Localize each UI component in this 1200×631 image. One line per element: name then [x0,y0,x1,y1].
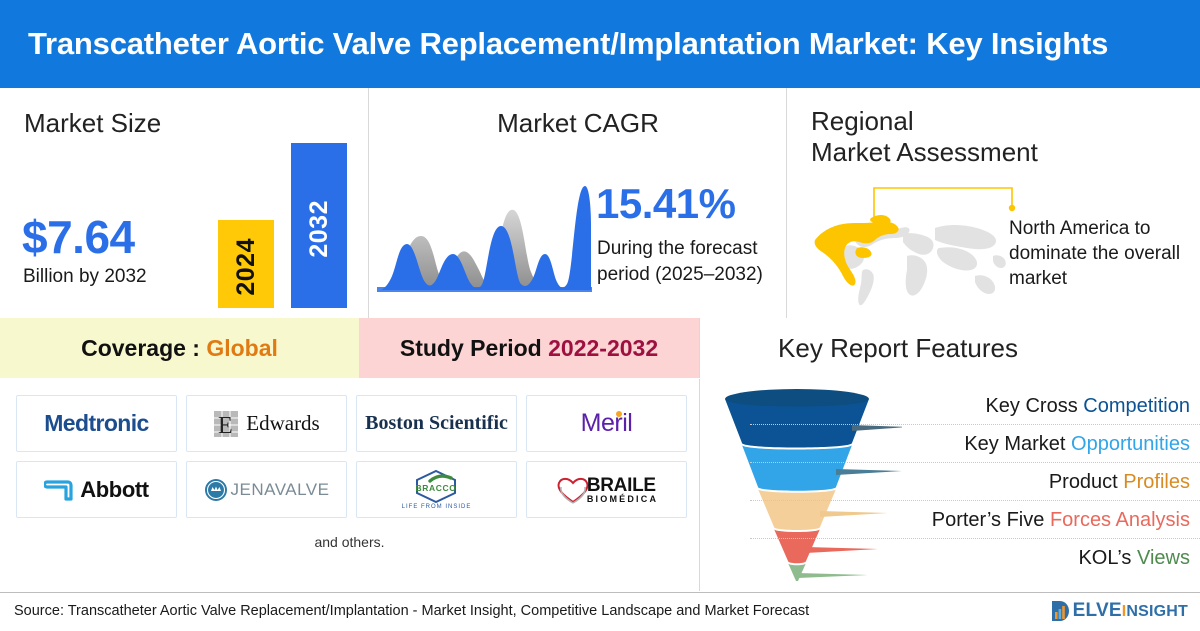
market-size-panel: Market Size $7.64 Billion by 2032 2024 2… [0,88,369,318]
funnel-label-2-prefix: Key Market [964,433,1071,455]
logo-medtronic-label: Medtronic [44,410,149,437]
coverage-label: Coverage : [81,335,206,361]
key-report-features-title: Key Report Features [700,333,1200,364]
funnel-label-1-highlight: Competition [1083,395,1190,417]
study-period-text: Study Period 2022-2032 [400,335,658,362]
svg-text:E: E [218,413,233,439]
bottom-row: Medtronic E Edwards Bost [0,379,1200,591]
funnel-label-row: KOL’s Views [880,539,1200,577]
funnel-label-2: Key Market Opportunities [964,433,1190,456]
logo-bracco[interactable]: BRACCO LIFE FROM INSIDE [356,461,517,518]
bar-2032: 2032 [291,143,347,308]
logo-braile-tagline: BIOMÉDICA [587,495,658,504]
logo-braile-label: BRAILE [587,476,658,495]
edwards-mark-icon: E [213,409,239,439]
regional-heading: Regional Market Assessment [811,106,1038,167]
funnel-segment-4 [774,529,820,563]
source-text: Source: Transcatheter Aortic Valve Repla… [14,603,809,619]
logo-edwards-label: Edwards [246,411,319,436]
abbott-mark-icon [44,477,74,503]
market-size-subtitle: Billion by 2032 [23,266,147,288]
logo-medtronic[interactable]: Medtronic [16,395,177,452]
logo-meril-label: Meril [581,409,633,438]
logo-abbott[interactable]: Abbott [16,461,177,518]
funnel-label-1: Key Cross Competition [985,395,1190,418]
market-size-heading: Market Size [24,108,161,139]
page-title: Transcatheter Aortic Valve Replacement/I… [0,26,1108,62]
logo-braile[interactable]: BRAILE BIOMÉDICA [526,461,687,518]
coverage-band: Coverage : Global [0,318,359,378]
funnel-label-1-prefix: Key Cross [985,395,1083,417]
braile-heart-icon [555,474,591,506]
funnel-label-3: Product Profiles [1049,471,1190,494]
funnel-label-5-highlight: Views [1137,547,1190,569]
funnel-chart [712,385,902,581]
funnel-label-row: Product Profiles [880,463,1200,501]
market-size-value: $7.64 [22,210,135,264]
funnel-label-4-highlight: Forces Analysis [1050,509,1190,531]
bar-2024: 2024 [218,220,274,308]
logo-bracco-tagline: LIFE FROM INSIDE [402,504,472,510]
key-report-features-band: Key Report Features [699,318,1200,378]
study-period-value: 2022-2032 [548,335,658,361]
logo-abbott-label: Abbott [80,477,148,503]
logo-boston-scientific[interactable]: Boston Scientific [356,395,517,452]
funnel-label-5: KOL’s Views [1078,547,1190,570]
market-cagr-subtitle: During the forecast period (2025–2032) [597,236,777,287]
market-cagr-heading: Market CAGR [369,108,787,139]
funnel-label-row: Key Market Opportunities [880,425,1200,463]
bar-2024-label: 2024 [232,232,261,296]
company-logos-panel: Medtronic E Edwards Bost [0,379,699,591]
coverage-text: Coverage : Global [81,335,278,362]
funnel-label-3-highlight: Profiles [1123,471,1190,493]
funnel-labels: Key Cross Competition Key Market Opportu… [880,387,1200,577]
funnel-label-4-prefix: Porter’s Five [932,509,1050,531]
funnel-label-4: Porter’s Five Forces Analysis [932,509,1190,532]
logo-meril[interactable]: Meril [526,395,687,452]
logo-boston-scientific-label: Boston Scientific [365,414,508,433]
market-cagr-value: 15.41% [596,180,735,228]
bar-2032-label: 2032 [305,194,334,258]
delveinsight-wordmark: ELVEINSIGHT [1073,600,1188,622]
delveinsight-d-icon [1050,599,1072,623]
delveinsight-logo[interactable]: ELVEINSIGHT [1050,599,1188,623]
jenavalve-crest-icon [204,478,228,502]
and-others-note: and others. [0,534,699,550]
regional-note: North America to dominate the overall ma… [1009,216,1199,291]
logo-meril-text: Meril [581,409,633,437]
funnel-segment-2 [742,445,852,491]
infographic-page: Transcatheter Aortic Valve Replacement/I… [0,0,1200,630]
funnel-label-5-prefix: KOL’s [1078,547,1137,569]
funnel-label-3-prefix: Product [1049,471,1123,493]
study-period-band: Study Period 2022-2032 [359,318,699,378]
company-logo-grid: Medtronic E Edwards Bost [16,395,687,518]
market-size-bar-chart: 2024 2032 [213,130,353,308]
logo-jenavalve-label: JENAVALVE [231,480,330,500]
header-bar: Transcatheter Aortic Valve Replacement/I… [0,0,1200,88]
funnel-segment-3 [758,489,836,530]
svg-text:BRACCO: BRACCO [416,483,457,493]
brand-part-b: NSIGHT [1126,603,1188,620]
top-metrics-row: Market Size $7.64 Billion by 2032 2024 2… [0,88,1200,318]
logo-jenavalve[interactable]: JENAVALVE [186,461,347,518]
logo-edwards[interactable]: E Edwards [186,395,347,452]
footer-bar: Source: Transcatheter Aortic Valve Repla… [0,592,1200,631]
regional-panel: Regional Market Assessment [787,88,1200,318]
band-row: Coverage : Global Study Period 2022-2032… [0,318,1200,378]
cagr-wave-chart [377,166,592,296]
funnel-label-row: Key Cross Competition [880,387,1200,425]
funnel-label-2-highlight: Opportunities [1071,433,1190,455]
funnel-segment-5 [788,563,806,581]
bracco-hexagon-icon: BRACCO [410,469,462,503]
brand-part-a: ELVE [1073,600,1122,621]
coverage-value: Global [206,335,278,361]
study-period-label: Study Period [400,335,548,361]
market-cagr-panel: Market CAGR 15.41% During the forecast p… [369,88,787,318]
funnel-label-row: Porter’s Five Forces Analysis [880,501,1200,539]
key-report-features-panel: Key Cross Competition Key Market Opportu… [699,379,1200,591]
